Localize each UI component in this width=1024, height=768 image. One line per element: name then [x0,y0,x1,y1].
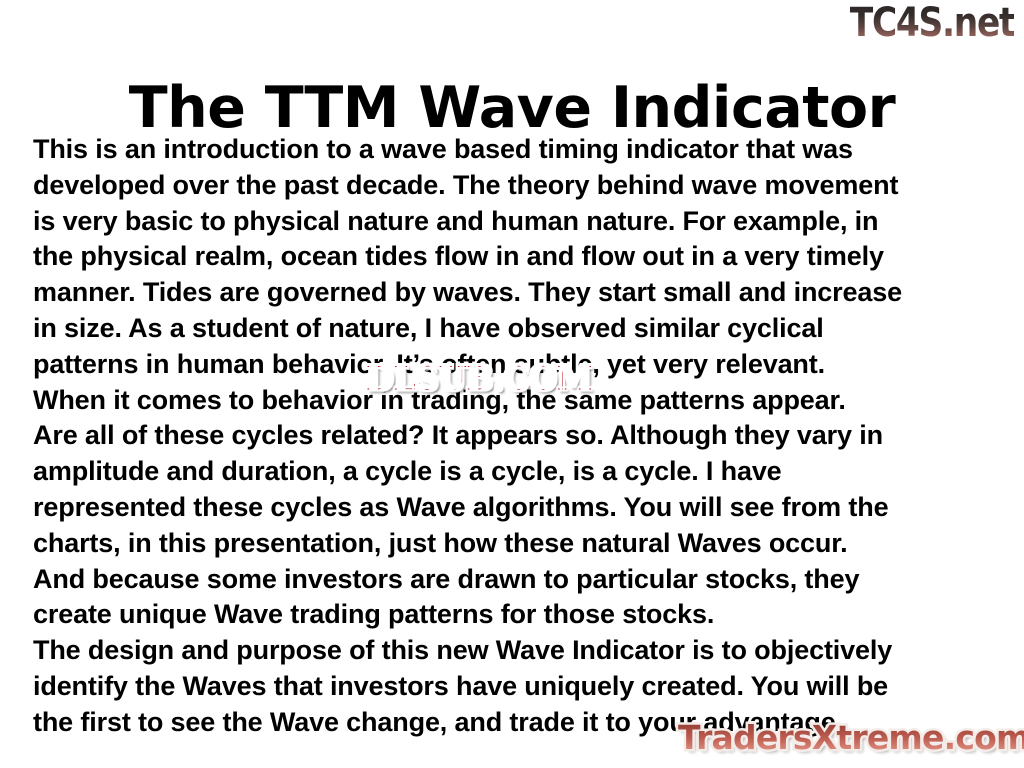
body-line: manner. Tides are governed by waves. The… [33,275,993,311]
body-line: amplitude and duration, a cycle is a cyc… [33,454,993,490]
site-logo-text: TradersXtreme.com [678,717,1024,759]
body-text-block: This is an introduction to a wave based … [33,132,993,741]
body-line: charts, in this presentation, just how t… [33,526,993,562]
body-line: Are all of these cycles related? It appe… [33,418,993,454]
body-line: developed over the past decade. The theo… [33,168,993,204]
body-line: The design and purpose of this new Wave … [33,633,993,669]
watermark-dlsub: DLSUB.COM [366,360,592,398]
body-line: And because some investors are drawn to … [33,562,993,598]
page-title: The TTM Wave Indicator [0,76,1024,140]
site-logo-tradersxtreme: TradersXtreme.com TradersXtreme.com [678,717,1018,763]
body-line: in size. As a student of nature, I have … [33,311,993,347]
body-line: the physical realm, ocean tides flow in … [33,239,993,275]
body-line: create unique Wave trading patterns for … [33,597,993,633]
slide-canvas: TC4S.net The TTM Wave Indicator This is … [0,0,1024,768]
body-line: represented these cycles as Wave algorit… [33,490,993,526]
body-line: This is an introduction to a wave based … [33,132,993,168]
body-line: is very basic to physical nature and hum… [33,204,993,240]
brand-logo-tc4s: TC4S.net [850,2,1014,44]
body-line: identify the Waves that investors have u… [33,669,993,705]
